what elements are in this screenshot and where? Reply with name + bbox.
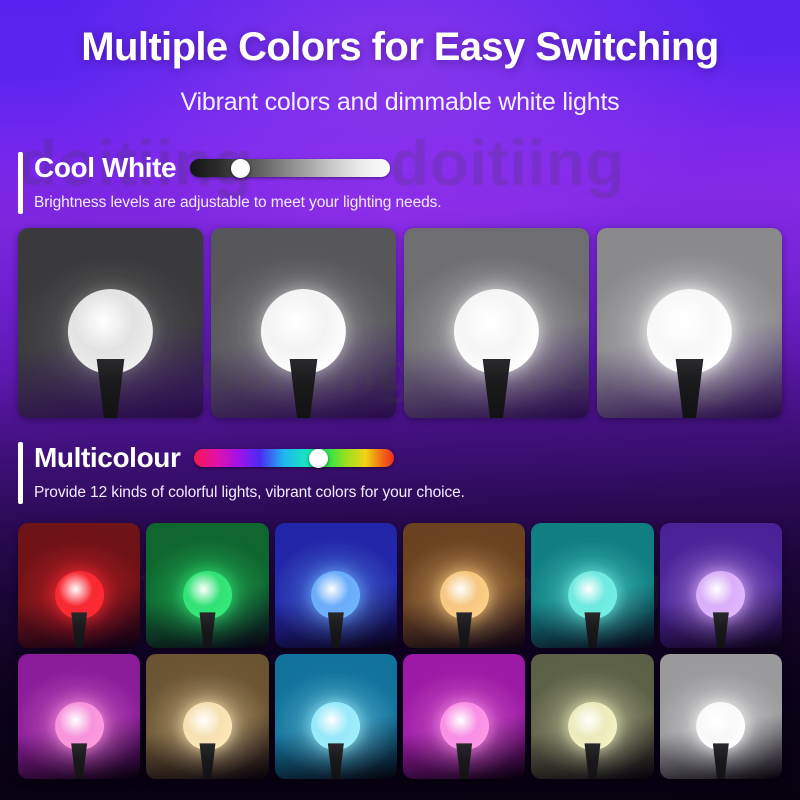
brightness-level-2 (211, 228, 396, 418)
section-title-multicolour: Multicolour (34, 442, 180, 474)
light-bulb (311, 702, 360, 780)
bulb-globe (55, 702, 104, 751)
color-magenta (18, 654, 140, 779)
light-bulb (68, 289, 153, 418)
light-bulb (183, 702, 232, 780)
light-bulb (261, 289, 346, 418)
light-bulb (568, 571, 617, 649)
color-pink (403, 654, 525, 779)
color-sky-blue (275, 654, 397, 779)
color-blue (275, 523, 397, 648)
cool-white-tile-grid (18, 228, 782, 418)
bulb-globe (568, 702, 617, 751)
hue-slider[interactable] (194, 449, 394, 467)
section-title-cool-white: Cool White (34, 152, 176, 184)
color-cyan (531, 523, 653, 648)
light-bulb (440, 702, 489, 780)
light-bulb (55, 571, 104, 649)
color-red (18, 523, 140, 648)
light-bulb (454, 289, 539, 418)
light-bulb (440, 571, 489, 649)
brightness-slider-knob[interactable] (231, 159, 250, 178)
section-header-row: Cool White (18, 150, 441, 186)
color-violet (660, 523, 782, 648)
brightness-level-4 (597, 228, 782, 418)
section-multicolour: Multicolour Provide 12 kinds of colorful… (18, 440, 465, 502)
brightness-slider[interactable] (190, 159, 390, 177)
bulb-globe (696, 702, 745, 751)
bulb-globe (696, 571, 745, 620)
light-bulb (647, 289, 732, 418)
bulb-globe (568, 571, 617, 620)
section-accent-rule (18, 152, 23, 214)
color-warm-amber (403, 523, 525, 648)
section-caption-multicolour: Provide 12 kinds of colorful lights, vib… (18, 484, 465, 502)
bulb-globe (440, 571, 489, 620)
bulb-globe (183, 702, 232, 751)
section-accent-rule (18, 442, 23, 504)
section-header-row: Multicolour (18, 440, 465, 476)
hue-slider-knob[interactable] (309, 449, 328, 468)
bulb-globe (55, 571, 104, 620)
light-bulb (696, 571, 745, 649)
multicolour-tile-grid (18, 523, 782, 779)
bulb-globe (440, 702, 489, 751)
page-subtitle: Vibrant colors and dimmable white lights (0, 88, 800, 117)
bulb-globe (311, 571, 360, 620)
section-caption-cool-white: Brightness levels are adjustable to meet… (18, 194, 441, 212)
brightness-level-1 (18, 228, 203, 418)
color-cool-white (660, 654, 782, 779)
light-bulb (183, 571, 232, 649)
product-feature-poster: doitiing doitiing doitiing doitiing doit… (0, 0, 800, 800)
color-warm-white (146, 654, 268, 779)
light-bulb (311, 571, 360, 649)
section-cool-white: Cool White Brightness levels are adjusta… (18, 150, 441, 212)
light-bulb (696, 702, 745, 780)
bulb-globe (183, 571, 232, 620)
bulb-globe (311, 702, 360, 751)
light-bulb (55, 702, 104, 780)
light-bulb (568, 702, 617, 780)
page-title: Multiple Colors for Easy Switching (0, 26, 800, 68)
brightness-level-3 (404, 228, 589, 418)
color-pale-yellow (531, 654, 653, 779)
color-green (146, 523, 268, 648)
